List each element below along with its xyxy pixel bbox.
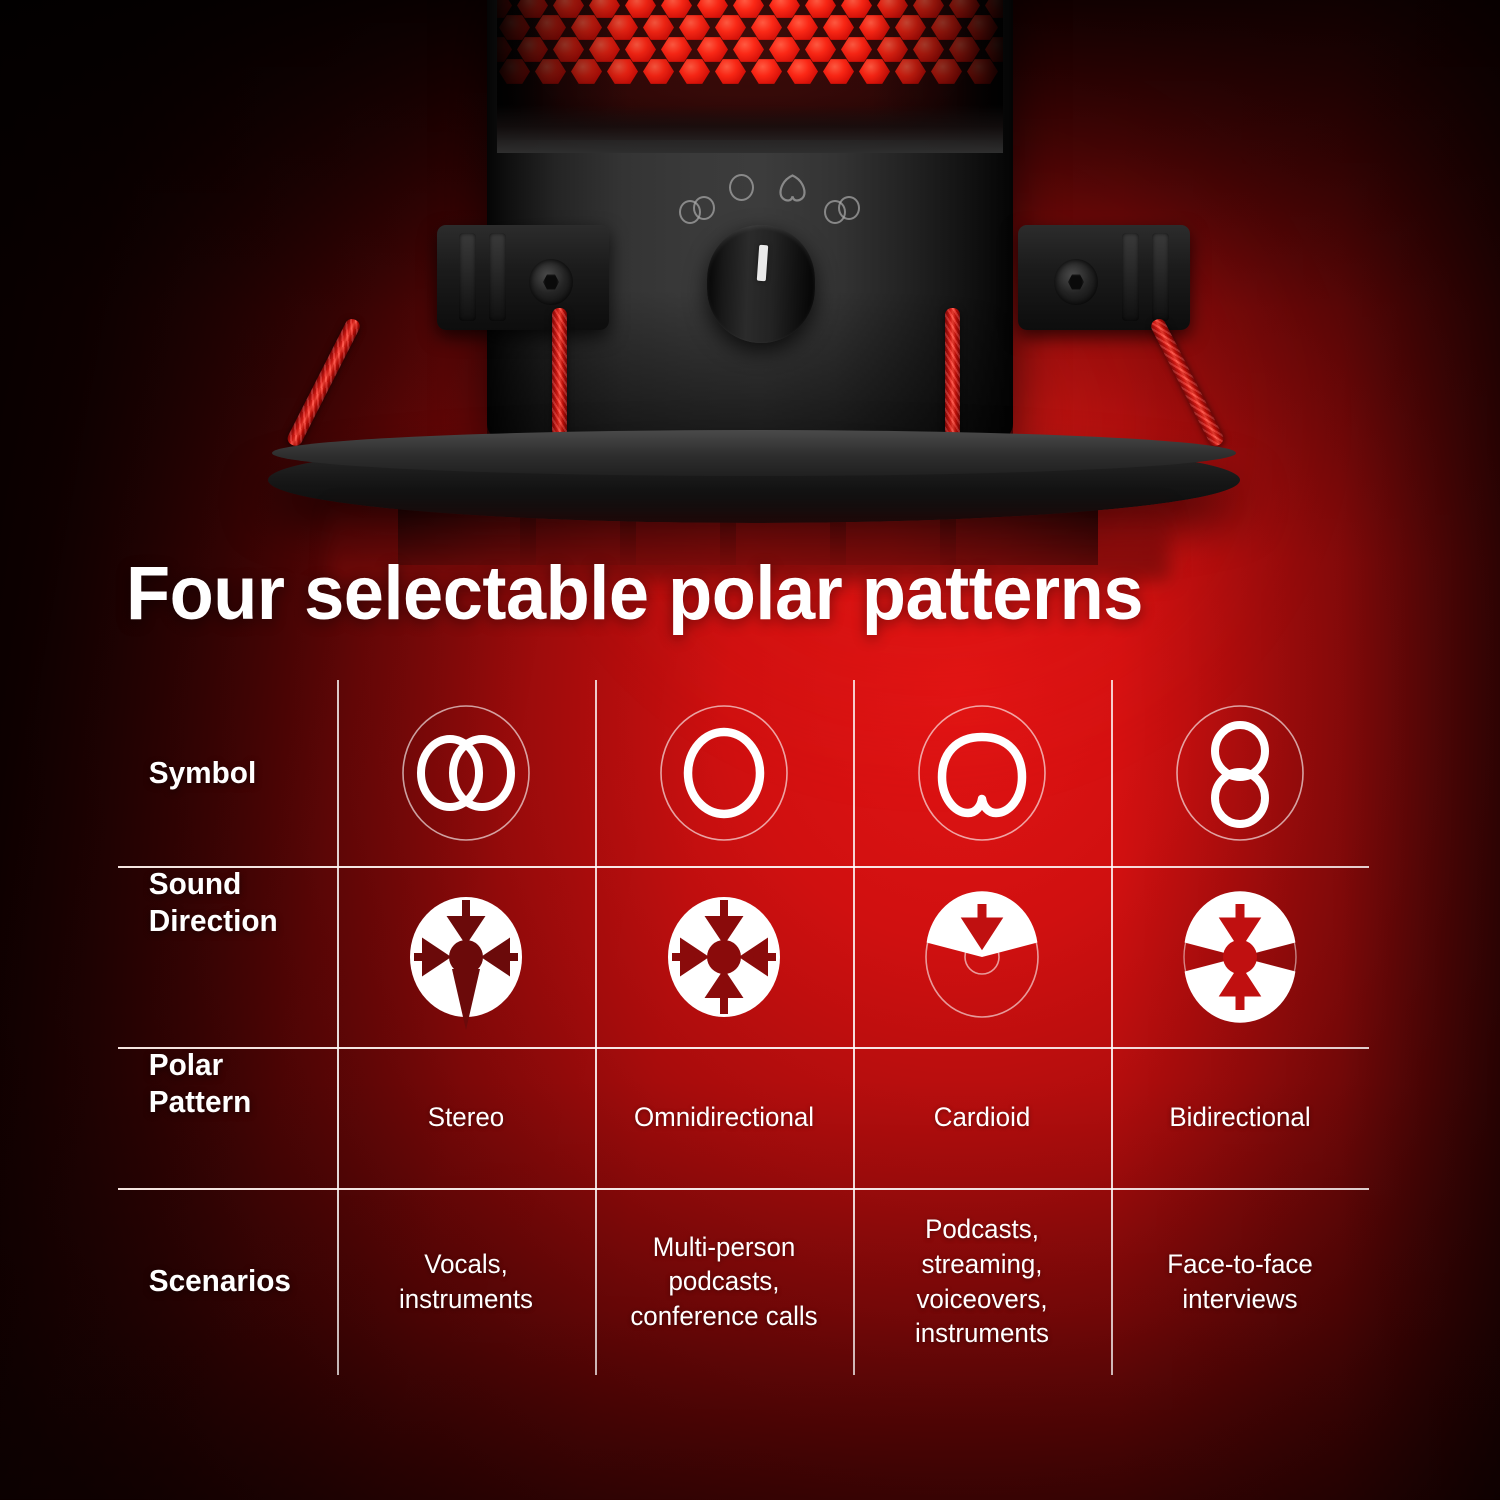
scenario-line: conference calls xyxy=(630,1299,817,1334)
scenario-line: Face-to-face xyxy=(1167,1247,1313,1282)
base-plate-top xyxy=(272,430,1236,476)
stereo-sound-direction-icon xyxy=(396,884,536,1030)
row-label-line2: Direction xyxy=(149,903,278,940)
scenario-line: voiceovers, xyxy=(916,1282,1047,1317)
omnidirectional-indicator-icon xyxy=(729,174,754,201)
polar-pattern-cell-cardioid: Cardioid xyxy=(858,1047,1106,1188)
grille-bottom-fade xyxy=(497,105,1003,153)
symbol-cell-cardioid xyxy=(853,680,1111,866)
omnidirectional-circle-icon xyxy=(658,703,790,843)
symbol-cell-bidirectional xyxy=(1111,680,1369,866)
scenarios-cell-bidirectional: Face-to-face interviews xyxy=(1116,1188,1364,1375)
scenario-line: podcasts, xyxy=(669,1264,780,1299)
shock-mount-clamp-right xyxy=(1018,225,1190,330)
symbol-cell-omnidirectional xyxy=(595,680,853,866)
symbol-cell-stereo xyxy=(337,680,595,866)
stereo-two-overlapping-circles-icon xyxy=(400,703,532,843)
scenario-line: interviews xyxy=(1182,1282,1297,1317)
scenario-line: instruments xyxy=(399,1282,533,1317)
polar-pattern-cell-bidirectional: Bidirectional xyxy=(1116,1047,1364,1188)
hex-screw-icon xyxy=(1054,259,1098,305)
row-label-scenarios: Scenarios xyxy=(118,1188,328,1375)
cardioid-indicator-icon xyxy=(779,174,806,202)
row-label-polar-pattern: Polar Pattern xyxy=(118,1047,328,1188)
scenario-line: instruments xyxy=(915,1316,1049,1351)
scenarios-cell-cardioid: Podcasts, streaming, voiceovers, instrum… xyxy=(858,1188,1106,1375)
sound-direction-cell-cardioid xyxy=(853,866,1111,1047)
sound-direction-cell-omnidirectional xyxy=(595,866,853,1047)
row-label-line1: Sound xyxy=(149,866,242,903)
sound-direction-cell-bidirectional xyxy=(1111,866,1369,1047)
infographic-stage: Four selectable polar patterns Symbol xyxy=(0,0,1500,1500)
scenarios-cell-stereo: Vocals, instruments xyxy=(342,1188,590,1375)
polar-pattern-comparison-table: Symbol xyxy=(118,680,1369,1380)
microphone-product-photo xyxy=(0,0,1500,560)
scenarios-cell-omnidirectional: Multi-person podcasts, conference calls xyxy=(600,1188,848,1375)
shock-mount-clamp-left xyxy=(437,225,609,330)
row-label-sound-direction: Sound Direction xyxy=(118,866,328,1047)
omnidirectional-sound-direction-icon xyxy=(654,884,794,1030)
row-label-line2: Pattern xyxy=(149,1084,252,1121)
row-label-line1: Polar xyxy=(149,1047,223,1084)
hex-screw-icon xyxy=(529,259,573,305)
scenario-line: Multi-person xyxy=(653,1230,796,1265)
cardioid-heart-icon xyxy=(916,703,1048,843)
bidirectional-figure-eight-icon xyxy=(1174,703,1306,843)
polar-pattern-cell-stereo: Stereo xyxy=(342,1047,590,1188)
scenario-line: Vocals, xyxy=(424,1247,508,1282)
polar-pattern-cell-omnidirectional: Omnidirectional xyxy=(600,1047,848,1188)
pattern-selector-knob[interactable] xyxy=(707,225,815,343)
elastic-cord xyxy=(1149,317,1226,449)
sound-direction-cell-stereo xyxy=(337,866,595,1047)
elastic-cord xyxy=(285,317,362,449)
scenario-line: streaming, xyxy=(921,1247,1042,1282)
page-title: Four selectable polar patterns xyxy=(126,556,1342,632)
row-label-symbol: Symbol xyxy=(118,680,328,866)
bidirectional-sound-direction-icon xyxy=(1170,884,1310,1030)
cardioid-sound-direction-icon xyxy=(912,884,1052,1030)
scenario-line: Podcasts, xyxy=(925,1212,1039,1247)
